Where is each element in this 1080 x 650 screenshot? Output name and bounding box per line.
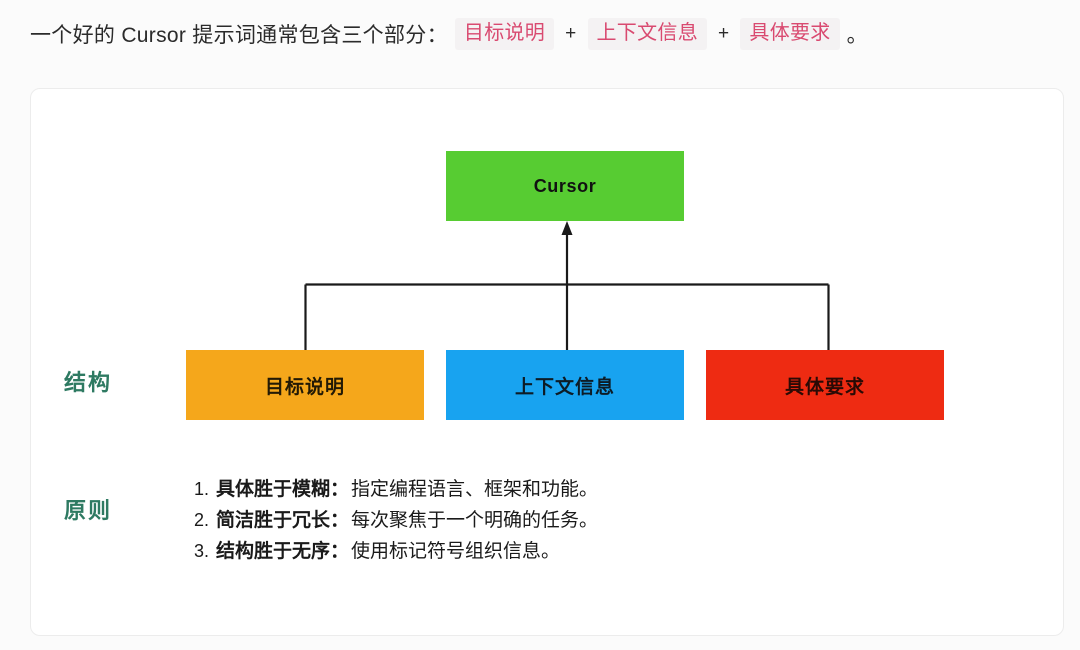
list-item: 1. 具体胜于模糊 ： 指定编程语言、框架和功能。: [183, 474, 823, 505]
header-chip-context: 上下文信息: [588, 18, 708, 50]
diagram-node-cursor: Cursor: [446, 151, 684, 221]
principle-desc-2: 每次聚焦于一个明确的任务。: [351, 505, 598, 536]
diagram-node-goal: 目标说明: [186, 350, 424, 420]
list-item: 3. 结构胜于无序 ： 使用标记符号组织信息。: [183, 536, 823, 567]
header-chip-goal: 目标说明: [455, 18, 554, 50]
principle-separator-2: ：: [330, 505, 351, 536]
row-label-principle: 原则: [64, 493, 112, 525]
header-plus-2: +: [707, 23, 740, 45]
principle-term-3: 结构胜于无序: [216, 536, 330, 567]
principle-desc-1: 指定编程语言、框架和功能。: [351, 474, 598, 505]
principles-list: 1. 具体胜于模糊 ： 指定编程语言、框架和功能。 2. 简洁胜于冗长 ： 每次…: [183, 474, 823, 567]
header-lead-text: 一个好的 Cursor 提示词通常包含三个部分：: [30, 19, 448, 49]
diagram-node-context: 上下文信息: [446, 350, 684, 420]
principle-number-2: 2.: [183, 505, 209, 536]
diagram-node-context-label: 上下文信息: [515, 372, 615, 399]
principle-separator-3: ：: [330, 536, 351, 567]
prompt-structure-diagram: Cursor 目标说明 上下文信息 具体要求 结构 原则 1. 具体胜于模糊 ：…: [31, 89, 1065, 637]
principle-term-2: 简洁胜于冗长: [216, 505, 330, 536]
header-period: 。: [840, 19, 868, 49]
principle-number-1: 1.: [183, 474, 209, 505]
principle-separator-1: ：: [330, 474, 351, 505]
diagram-node-cursor-label: Cursor: [534, 176, 597, 197]
principle-number-3: 3.: [183, 536, 209, 567]
row-label-structure: 结构: [64, 365, 112, 397]
diagram-node-requirement-label: 具体要求: [785, 372, 865, 399]
diagram-node-goal-label: 目标说明: [265, 372, 345, 399]
principle-desc-3: 使用标记符号组织信息。: [351, 536, 560, 567]
list-item: 2. 简洁胜于冗长 ： 每次聚焦于一个明确的任务。: [183, 505, 823, 536]
header-plus-1: +: [554, 23, 587, 45]
header-statement: 一个好的 Cursor 提示词通常包含三个部分： 目标说明 + 上下文信息 + …: [30, 14, 868, 54]
diagram-node-requirement: 具体要求: [706, 350, 944, 420]
content-card: Cursor 目标说明 上下文信息 具体要求 结构 原则 1. 具体胜于模糊 ：…: [30, 88, 1064, 636]
principle-term-1: 具体胜于模糊: [216, 474, 330, 505]
header-chip-requirement: 具体要求: [740, 18, 839, 50]
